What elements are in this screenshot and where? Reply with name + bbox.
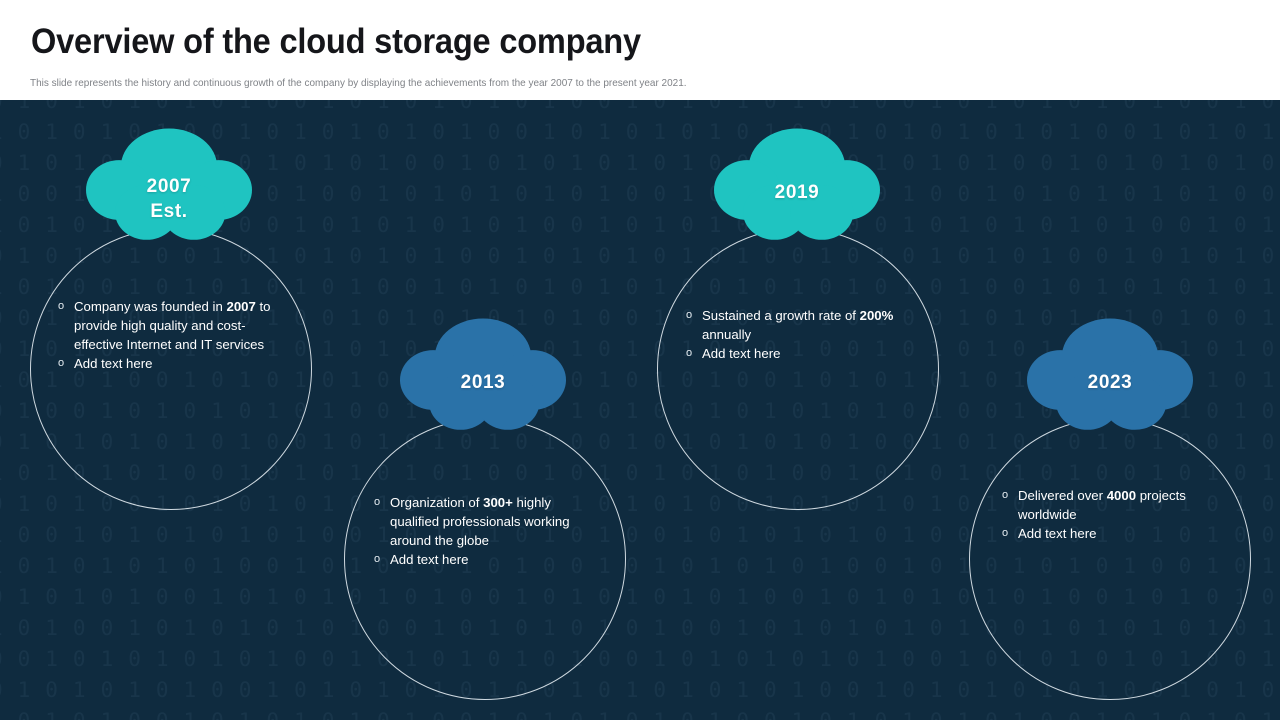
bullet-item: oAdd text here <box>1002 524 1214 543</box>
slide-header: Overview of the cloud storage company Th… <box>0 0 1280 100</box>
bullet-text: Add text here <box>1018 524 1214 543</box>
bullet-item: oDelivered over 4000 projects worldwide <box>1002 486 1214 524</box>
bullet-text: Delivered over 4000 projects worldwide <box>1018 486 1214 524</box>
bullet-marker-icon: o <box>1002 486 1018 505</box>
milestone-ring-2023 <box>969 418 1251 700</box>
page-subtitle: This slide represents the history and co… <box>30 77 687 89</box>
bullet-segment: Delivered over <box>1018 488 1107 503</box>
slide-body: 0101010101001010101010010101010100101010… <box>0 100 1280 720</box>
milestone-bullets-2023: oDelivered over 4000 projects worldwideo… <box>1002 486 1214 543</box>
page-title: Overview of the cloud storage company <box>31 22 641 62</box>
bullet-marker-icon: o <box>1002 524 1018 543</box>
bullet-segment: Add text here <box>1018 526 1096 541</box>
cloud-shape-2023[interactable]: 2023 <box>1027 312 1193 438</box>
slide-canvas: Overview of the cloud storage company Th… <box>0 0 1280 720</box>
milestone-cluster-2023: 2023oDelivered over 4000 projects worldw… <box>0 100 1280 720</box>
bullet-emphasis: 4000 <box>1107 488 1136 503</box>
